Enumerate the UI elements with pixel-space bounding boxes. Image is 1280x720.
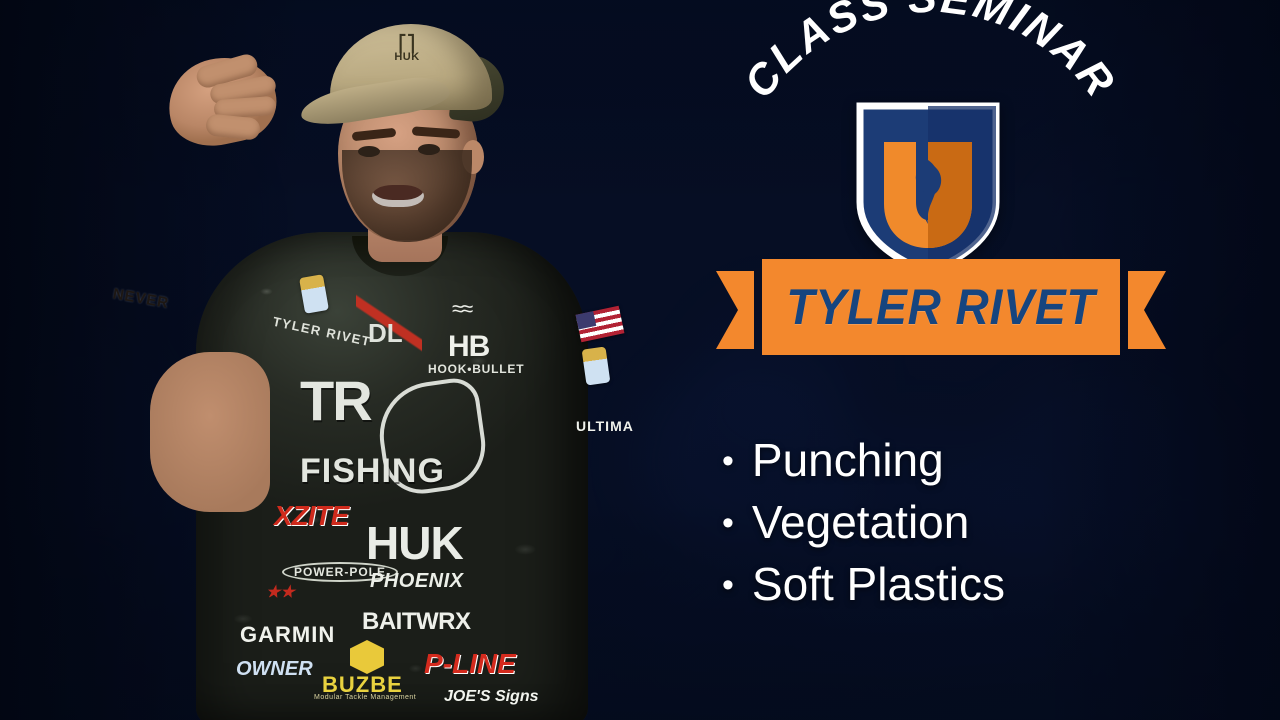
- phoenix-logo: PHOENIX: [370, 570, 464, 593]
- bullet-icon: •: [722, 557, 734, 614]
- presenter-photo: ⎡⎤ HUK NEVER TYLER RIVET DL ≈≈ HB HOOK•B…: [0, 0, 700, 720]
- bullet-icon: •: [722, 433, 734, 490]
- topics-list: • Punching • Vegetation • Soft Plastics: [722, 432, 1192, 618]
- university-shield: [852, 98, 1004, 278]
- tr-fishing-wordmark: FISHING: [300, 452, 445, 491]
- shield-svg: [852, 98, 1004, 278]
- list-item-label: Vegetation: [752, 494, 969, 551]
- bullet-icon: •: [722, 495, 734, 552]
- left-shoulder-arm: [150, 352, 270, 512]
- huk-logo: HUK: [366, 516, 463, 570]
- buzbe-tagline: Modular Tackle Management: [314, 694, 416, 701]
- owner-logo: OWNER: [236, 658, 313, 681]
- baitwrx-logo: BAITWRX: [362, 608, 470, 636]
- garmin-logo: GARMIN: [240, 622, 335, 648]
- joes-signs-logo: JOE'S Signs: [444, 688, 539, 706]
- hb-logo: HB: [448, 330, 489, 364]
- waves-logo: ≈≈: [452, 296, 470, 322]
- list-item: • Soft Plastics: [722, 556, 1192, 618]
- hook-bullet-logo: HOOK•BULLET: [428, 362, 524, 376]
- arc-text: CLASS SEMINAR: [735, 0, 1125, 107]
- eye-right: [418, 144, 440, 155]
- usa-flag-patch: [576, 306, 625, 343]
- list-item-label: Soft Plastics: [752, 556, 1005, 613]
- p-line-logo: P-LINE: [424, 648, 516, 680]
- svg-text:CLASS SEMINAR: CLASS SEMINAR: [735, 0, 1125, 107]
- list-item-label: Punching: [752, 432, 944, 489]
- xzite-logo: XZITE: [274, 500, 348, 532]
- list-item: • Punching: [722, 432, 1192, 494]
- branding-lockup: CLASS SEMINAR: [700, 0, 1260, 380]
- presenter-name-ribbon: TYLER RIVET: [716, 253, 1166, 361]
- cap-brand-logo: ⎡⎤ HUK: [385, 38, 429, 72]
- title-card: ⎡⎤ HUK NEVER TYLER RIVET DL ≈≈ HB HOOK•B…: [0, 0, 1280, 720]
- eye-left: [358, 146, 380, 157]
- cap-brand-label: HUK: [394, 51, 419, 63]
- secondary-red-logo: ★★: [266, 582, 295, 602]
- cap-logo-mark: ⎡⎤: [385, 38, 429, 51]
- ultima-logo: ULTIMA: [576, 418, 634, 434]
- tr-fishing-monogram: TR: [300, 368, 371, 433]
- dl-logo: DL: [368, 318, 403, 349]
- mouth: [372, 185, 424, 207]
- sleeve-patch-right: [582, 347, 611, 386]
- list-item: • Vegetation: [722, 494, 1192, 556]
- ribbon-name-text: TYLER RIVET: [734, 253, 1148, 361]
